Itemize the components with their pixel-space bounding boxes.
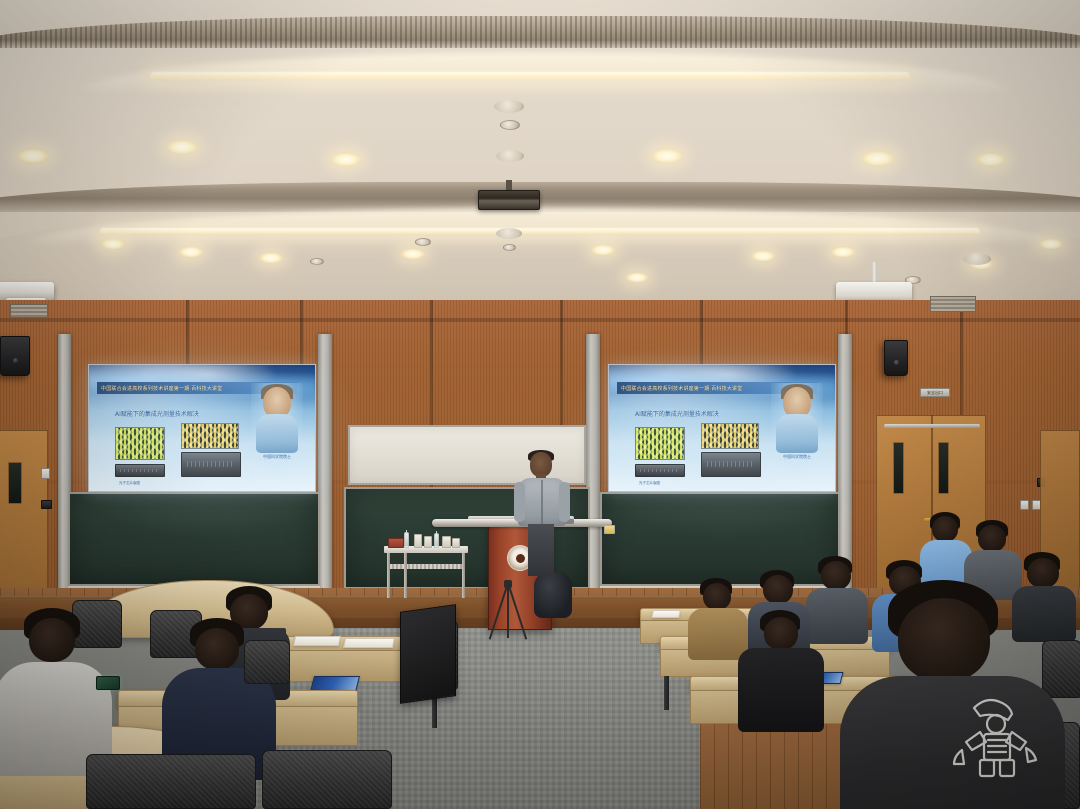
paper-cup-stack-4[interactable]	[452, 538, 460, 548]
door-right-push-bar[interactable]	[884, 424, 980, 428]
projection-screen-right: 中国联合会进高校系列技术讲座第一期·百科技大讲堂 AI赋能下的集成光测量技术解决…	[608, 364, 836, 492]
audience-person-b6-head	[978, 525, 1006, 552]
door-right-window-left	[893, 442, 904, 494]
chair-left-front-1[interactable]	[86, 754, 256, 809]
light-switch-right-1[interactable]	[1020, 500, 1029, 510]
strip-light-upper	[150, 72, 910, 81]
slide-right-footer: 光子芯片版图	[639, 481, 660, 486]
audience-person-b3-body	[688, 608, 748, 660]
air-vent-left	[10, 304, 48, 318]
audience-person-b8-head	[821, 561, 851, 590]
slide-left-chip-image-2	[181, 423, 239, 449]
refreshment-table	[384, 546, 468, 598]
audience-person-a1-head	[29, 618, 75, 662]
slide-right-portrait-caption: 中国科学院院士	[782, 455, 811, 472]
slide-right-device-2	[701, 452, 761, 477]
podium-side-cup[interactable]	[604, 525, 615, 534]
slide-right-portrait-head	[783, 387, 810, 418]
smartphone-in-hand[interactable]	[96, 676, 120, 690]
downlight-9	[258, 252, 284, 264]
door-left[interactable]	[0, 430, 48, 600]
slide-left-portrait-caption: 中国科学院院士	[262, 455, 291, 472]
screen-frame-post-2	[318, 334, 332, 600]
audience-person-b3-head	[703, 583, 731, 610]
downlight-3	[330, 152, 362, 167]
chalkboard-right	[600, 492, 840, 586]
refreshment-table-leg-3	[404, 553, 407, 598]
door-left-window	[8, 462, 22, 504]
paper-cup-stack-2[interactable]	[424, 536, 432, 548]
slide-left-chip-image-1	[115, 427, 165, 460]
slide-right: 中国联合会进高校系列技术讲座第一期·百科技大讲堂 AI赋能下的集成光测量技术解决…	[609, 365, 835, 491]
audience-person-b2-head	[764, 617, 798, 650]
audience-person-b7-head	[1027, 558, 1059, 588]
slide-right-subtitle: AI赋能下的集成光测量技术解决	[635, 409, 719, 418]
audience-person-b8-body	[806, 588, 868, 644]
audience-person-b9-head	[763, 575, 793, 604]
backpack-on-floor	[534, 572, 572, 618]
slide-left-portrait-body	[256, 414, 298, 453]
aisle-monitor-panel	[400, 604, 456, 704]
presenter-arm-right	[559, 482, 570, 522]
slide-left: 中国联合会进高校系列技术讲座第一期·百科技大讲堂 AI赋能下的集成光测量技术解决…	[89, 365, 315, 491]
downlight-10	[400, 248, 426, 260]
downlight-14	[830, 246, 856, 258]
audience-person-a2-head	[195, 628, 239, 670]
slide-left-subtitle: AI赋能下的集成光测量技术解决	[115, 409, 199, 418]
light-switch-left-1[interactable]	[41, 468, 50, 479]
tripod-leg-3	[507, 586, 509, 638]
slide-right-chip-image-2	[701, 423, 759, 449]
ceiling-projector-right	[836, 282, 912, 302]
downlight-16	[1038, 238, 1064, 250]
presenter-legs	[528, 524, 554, 576]
strip-light-lower	[100, 228, 980, 235]
water-bottle-2[interactable]	[434, 533, 439, 548]
presenter-shirt-placket	[541, 480, 543, 524]
sprinkler-1	[500, 120, 520, 130]
ceiling-heater-fixture	[478, 190, 540, 210]
downlight-8	[178, 246, 204, 258]
air-vent-right	[930, 296, 976, 312]
downlight-1	[16, 148, 50, 164]
slide-right-portrait-body	[776, 414, 818, 453]
slide-left-device-1	[115, 464, 165, 477]
downlight-4	[650, 148, 684, 164]
paper-cup-stack-3[interactable]	[442, 536, 451, 548]
slide-left-banner-text: 中国联合会进高校系列技术讲座第一期·百科技大讲堂	[101, 385, 222, 392]
downlight-11	[590, 244, 616, 256]
slide-right-chip-image-1	[635, 427, 685, 460]
smoke-detector-4	[963, 253, 991, 265]
paper-cup-stack-1[interactable]	[414, 534, 422, 548]
audience-person-b2-body	[738, 648, 824, 732]
chair-left-front-2[interactable]	[262, 750, 392, 809]
smoke-detector-1	[494, 100, 524, 113]
downlight-6	[975, 152, 1007, 167]
smoke-detector-2	[496, 150, 524, 162]
wall-band-1	[0, 318, 1080, 322]
red-box-item[interactable]	[388, 538, 404, 548]
slide-left-portrait: 中国科学院院士	[251, 383, 303, 475]
audience-person-b7-body	[1012, 586, 1076, 642]
slide-right-banner-text: 中国联合会进高校系列技术讲座第一期·百科技大讲堂	[621, 385, 742, 392]
slide-right-device-1	[635, 464, 685, 477]
downlight-13	[750, 250, 776, 262]
chair-right-1[interactable]	[1042, 640, 1080, 698]
refreshment-table-shelf	[390, 564, 462, 569]
downlight-7	[100, 238, 126, 250]
presenter-arm-left	[514, 482, 525, 522]
audience-person-b5-head	[932, 516, 958, 542]
handout-l2[interactable]	[343, 638, 395, 648]
wall-speaker-left	[0, 336, 30, 376]
handout-l1[interactable]	[293, 636, 341, 646]
slide-right-portrait: 中国科学院院士	[771, 383, 823, 475]
smoke-detector-3	[496, 228, 522, 239]
projector-mount-stem	[872, 262, 877, 284]
sprinkler-3	[310, 258, 324, 265]
door-sign-right: 安全出口	[920, 388, 950, 397]
chalkboard-left	[68, 492, 320, 586]
audience-person-b1-head	[898, 598, 990, 682]
downlight-12	[625, 272, 649, 283]
lecture-hall-photo: 安全出口 中国联合会进高校系列技术讲座第一期·百科技大讲堂 AI赋能下的集成光	[0, 0, 1080, 809]
sprinkler-4	[503, 244, 516, 251]
downlight-2	[165, 139, 199, 155]
chair-left-mid-1[interactable]	[244, 640, 290, 684]
door-right-window-right	[938, 442, 949, 494]
wall-speaker-right	[884, 340, 908, 376]
water-bottle-1[interactable]	[404, 532, 409, 548]
light-switch-left-2[interactable]	[41, 500, 52, 509]
refreshment-table-leg-1	[387, 553, 390, 598]
audience-person-b1-body	[840, 676, 1065, 809]
projection-screen-left: 中国联合会进高校系列技术讲座第一期·百科技大讲堂 AI赋能下的集成光测量技术解决…	[88, 364, 316, 492]
slide-left-device-2	[181, 452, 241, 477]
desk-right-row2-leg	[664, 676, 669, 710]
downlight-5	[860, 150, 896, 167]
handout-r1[interactable]	[651, 610, 681, 618]
presenter	[516, 452, 568, 536]
slide-left-footer: 光子芯片版图	[119, 481, 140, 486]
slide-left-portrait-head	[263, 387, 290, 418]
sprinkler-2	[415, 238, 431, 246]
refreshment-table-leg-2	[462, 553, 465, 598]
door-sign-right-text: 安全出口	[927, 390, 943, 396]
